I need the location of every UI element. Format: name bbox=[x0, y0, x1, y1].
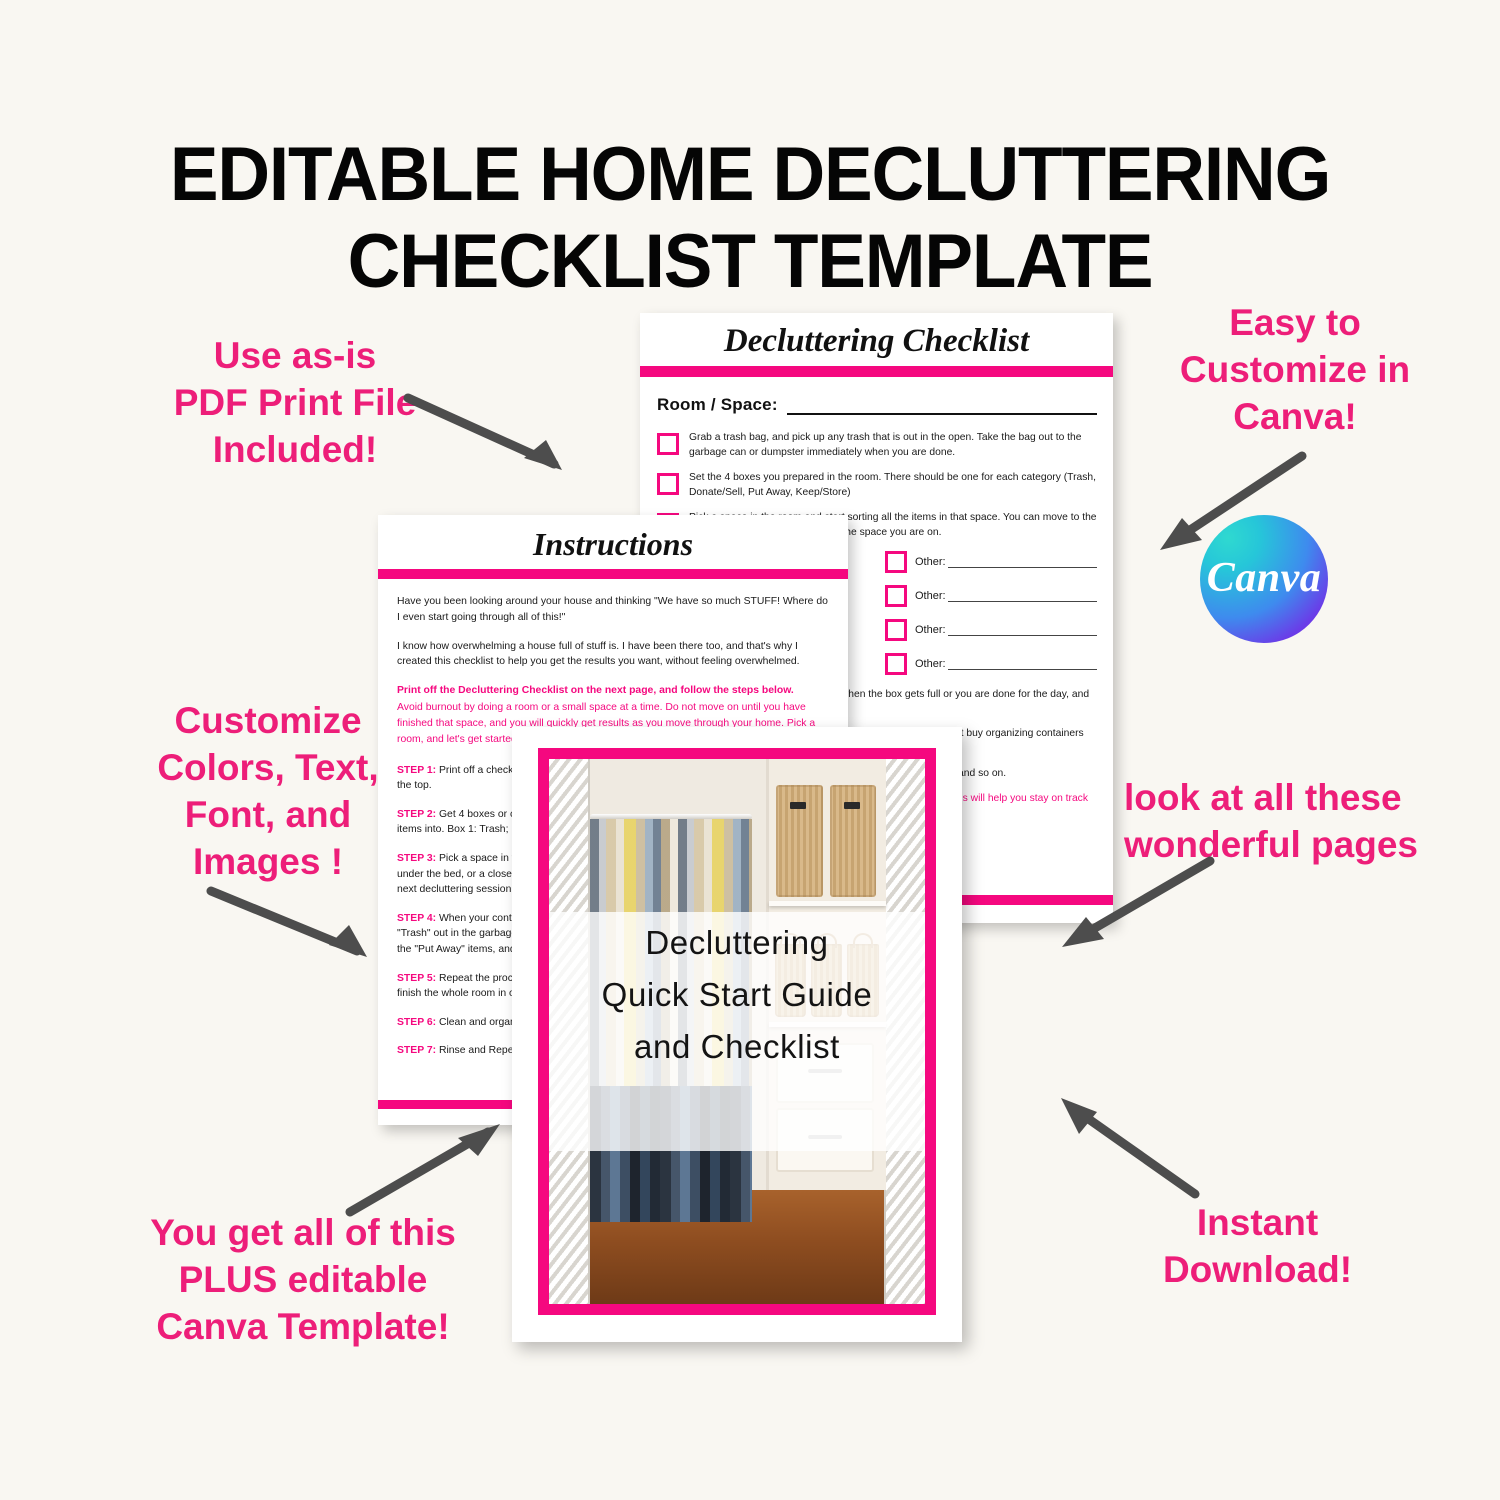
checkbox-icon[interactable] bbox=[657, 433, 679, 455]
step-label: STEP 5: bbox=[397, 973, 436, 984]
other-input-line[interactable] bbox=[948, 624, 1097, 636]
instructions-callout-heading: Print off the Decluttering Checklist on … bbox=[397, 683, 830, 699]
cover-page-preview[interactable]: Decluttering Quick Start Guide and Check… bbox=[512, 727, 962, 1342]
annotation-instant-download: Instant Download! bbox=[1125, 1200, 1390, 1294]
instructions-title-rule bbox=[378, 569, 848, 579]
basket-label-tag bbox=[844, 802, 860, 809]
step-label: STEP 6: bbox=[397, 1017, 436, 1028]
checklist-other-option[interactable]: Other: bbox=[885, 585, 1097, 607]
instructions-page-title: Instructions bbox=[378, 515, 848, 569]
instructions-paragraph: I know how overwhelming a house full of … bbox=[397, 639, 830, 671]
step-label: STEP 4: bbox=[397, 913, 436, 924]
other-field[interactable]: Other: bbox=[915, 658, 1097, 670]
step-label: STEP 2: bbox=[397, 809, 436, 820]
page-title-line-2: CHECKLIST TEMPLATE bbox=[30, 219, 1470, 306]
room-space-input-line[interactable] bbox=[787, 397, 1097, 415]
annotation-use-as-is: Use as-is PDF Print File Included! bbox=[165, 333, 425, 474]
other-field[interactable]: Other: bbox=[915, 624, 1097, 636]
checklist-title-rule bbox=[640, 366, 1113, 377]
checklist-item-text: Set the 4 boxes you prepared in the room… bbox=[689, 471, 1097, 501]
checklist-other-option[interactable]: Other: bbox=[885, 551, 1097, 573]
step-label: STEP 7: bbox=[397, 1045, 436, 1056]
other-label: Other: bbox=[915, 590, 946, 602]
other-input-line[interactable] bbox=[948, 658, 1097, 670]
other-input-line[interactable] bbox=[948, 556, 1097, 568]
checkbox-icon[interactable] bbox=[885, 653, 907, 675]
annotation-look-at-pages: look at all these wonderful pages bbox=[1124, 775, 1500, 869]
arrow-instant-download bbox=[1035, 1090, 1215, 1205]
annotation-customize-colors: Customize Colors, Text, Font, and Images… bbox=[138, 698, 398, 886]
canva-logo-label: Canva bbox=[1207, 554, 1322, 602]
other-label: Other: bbox=[915, 556, 946, 568]
arrow-customize-colors bbox=[205, 885, 395, 975]
other-field[interactable]: Other: bbox=[915, 556, 1097, 568]
checklist-item[interactable]: Grab a trash bag, and pick up any trash … bbox=[657, 431, 1097, 461]
annotation-easy-to-customize: Easy to Customize in Canva! bbox=[1145, 300, 1445, 441]
checklist-item-text: Grab a trash bag, and pick up any trash … bbox=[689, 431, 1097, 461]
cover-title: Decluttering Quick Start Guide and Check… bbox=[549, 917, 925, 1073]
step-label: STEP 1: bbox=[397, 765, 436, 776]
checkbox-icon[interactable] bbox=[657, 473, 679, 495]
checklist-item[interactable]: Set the 4 boxes you prepared in the room… bbox=[657, 471, 1097, 501]
annotation-you-get-all: You get all of this PLUS editable Canva … bbox=[148, 1210, 458, 1351]
poster-canvas: EDITABLE HOME DECLUTTERING CHECKLIST TEM… bbox=[0, 0, 1500, 1500]
page-title: EDITABLE HOME DECLUTTERING CHECKLIST TEM… bbox=[30, 132, 1470, 305]
step-label: STEP 3: bbox=[397, 853, 436, 864]
other-label: Other: bbox=[915, 624, 946, 636]
other-input-line[interactable] bbox=[948, 590, 1097, 602]
room-space-label: Room / Space: bbox=[657, 395, 778, 415]
shelf-board bbox=[769, 901, 886, 906]
checkbox-icon[interactable] bbox=[885, 619, 907, 641]
checklist-page-title: Decluttering Checklist bbox=[640, 313, 1113, 366]
checkbox-icon[interactable] bbox=[885, 551, 907, 573]
checklist-other-option[interactable]: Other: bbox=[885, 619, 1097, 641]
page-title-line-1: EDITABLE HOME DECLUTTERING bbox=[30, 132, 1470, 219]
basket-label-tag bbox=[790, 802, 806, 809]
arrow-use-as-is bbox=[404, 392, 584, 482]
other-field[interactable]: Other: bbox=[915, 590, 1097, 602]
cover-pink-frame: Decluttering Quick Start Guide and Check… bbox=[538, 748, 936, 1315]
other-label: Other: bbox=[915, 658, 946, 670]
arrow-you-get-all bbox=[340, 1120, 520, 1220]
checklist-option-column-right: Other: Other: Other: bbox=[885, 551, 1097, 687]
instructions-paragraph: Have you been looking around your house … bbox=[397, 594, 830, 626]
checkbox-icon[interactable] bbox=[885, 585, 907, 607]
room-space-field[interactable]: Room / Space: bbox=[657, 395, 1097, 415]
checklist-other-option[interactable]: Other: bbox=[885, 653, 1097, 675]
canva-logo-icon[interactable]: Canva bbox=[1200, 515, 1328, 643]
